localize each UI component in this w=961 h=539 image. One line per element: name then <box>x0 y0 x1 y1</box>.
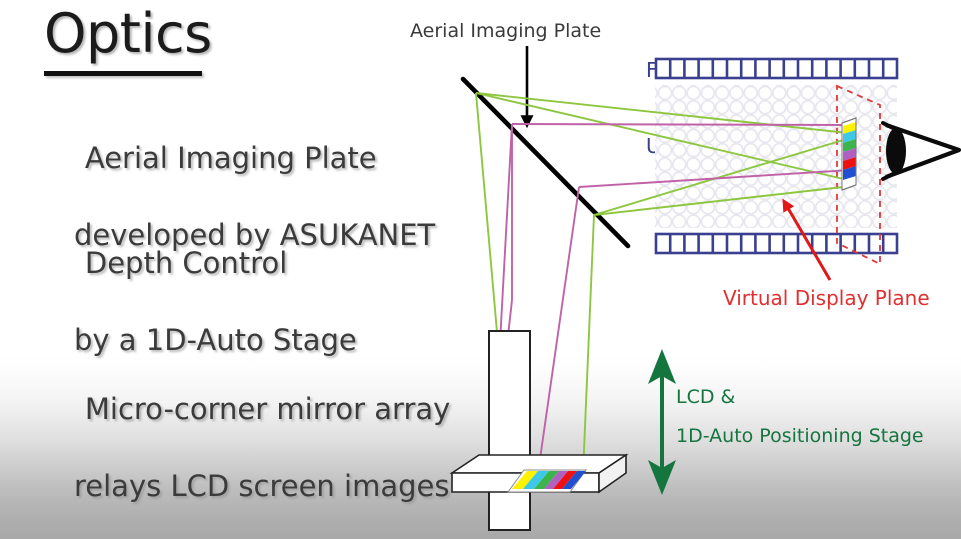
bullet-micro-corner-mirror: Micro-corner mirror array relays LCD scr… <box>48 352 450 539</box>
bullet-line-1: Depth Control <box>85 246 287 280</box>
bullet-line-2: relays LCD screen images <box>48 467 450 505</box>
label-lcd: LCD & <box>676 386 735 410</box>
label-phased-array-line1: Face-to-Face <box>646 58 894 83</box>
page-title: Optics <box>44 6 212 63</box>
stage-motion-arrow <box>648 349 676 495</box>
slide-canvas: Optics Aerial Imaging Plate developed by… <box>0 0 961 539</box>
bullet-line-1: Aerial Imaging Plate <box>85 141 377 175</box>
virtual-plane-callout-arrow <box>785 203 830 280</box>
stage-assembly <box>452 331 626 530</box>
viewer-eye-icon <box>883 123 959 179</box>
label-phased-array: Face-to-Face Ultrasound Phased Array <box>646 8 894 210</box>
title-underline <box>44 71 202 76</box>
aerial-imaging-plate-line <box>463 79 628 246</box>
label-1d-auto-positioning-stage: 1D-Auto Positioning Stage <box>676 425 924 449</box>
label-phased-array-line2: Ultrasound Phased Array <box>646 134 894 159</box>
bullet-line-1: Micro-corner mirror array <box>85 392 450 426</box>
label-virtual-display-plane: Virtual Display Plane <box>723 286 930 311</box>
label-aerial-imaging-plate: Aerial Imaging Plate <box>410 20 601 44</box>
phased-array-bottom <box>656 234 897 253</box>
